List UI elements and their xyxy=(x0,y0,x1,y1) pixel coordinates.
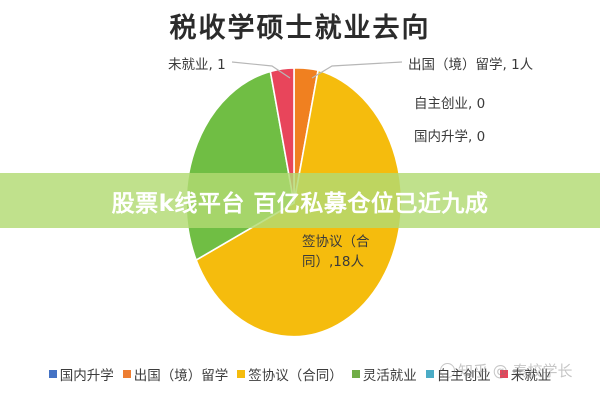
legend-item-2[interactable]: 签协议（合同） xyxy=(237,364,343,384)
legend-item-3[interactable]: 灵活就业 xyxy=(352,364,417,384)
legend-label-3: 灵活就业 xyxy=(363,364,417,384)
legend-swatch-icon-1 xyxy=(123,370,131,378)
data-label-unemployed: 未就业, 1 xyxy=(168,56,226,74)
watermark-text: 知乎 @ 秦校学长 xyxy=(458,360,573,381)
legend-item-0[interactable]: 国内升学 xyxy=(49,364,114,384)
chart-title: 税收学硕士就业去向 xyxy=(0,6,600,45)
pie-chart-figure: 税收学硕士就业去向 未就业, 1 出国（境）留学, 1人 自主创业, 0 国内升… xyxy=(0,0,600,400)
legend-item-1[interactable]: 出国（境）留学 xyxy=(123,364,229,384)
legend-label-1: 出国（境）留学 xyxy=(134,364,229,384)
data-label-startup: 自主创业, 0 xyxy=(414,95,485,113)
watermark-logo-icon xyxy=(440,363,455,378)
legend-swatch-icon-0 xyxy=(49,370,57,378)
watermark: 知乎 @ 秦校学长 xyxy=(440,360,573,381)
overlay-banner: 股票k线平台 百亿私募仓位已近九成 xyxy=(0,173,600,228)
data-label-contract: 签协议（合同）,18人 xyxy=(302,233,384,272)
legend-label-2: 签协议（合同） xyxy=(248,364,343,384)
legend-swatch-icon-2 xyxy=(237,370,245,378)
legend-label-0: 国内升学 xyxy=(60,364,114,384)
data-label-domestic: 国内升学, 0 xyxy=(414,128,485,146)
data-label-abroad: 出国（境）留学, 1人 xyxy=(408,56,533,74)
legend-swatch-icon-3 xyxy=(352,370,360,378)
overlay-banner-text: 股票k线平台 百亿私募仓位已近九成 xyxy=(112,184,489,218)
legend-swatch-icon-4 xyxy=(426,370,434,378)
